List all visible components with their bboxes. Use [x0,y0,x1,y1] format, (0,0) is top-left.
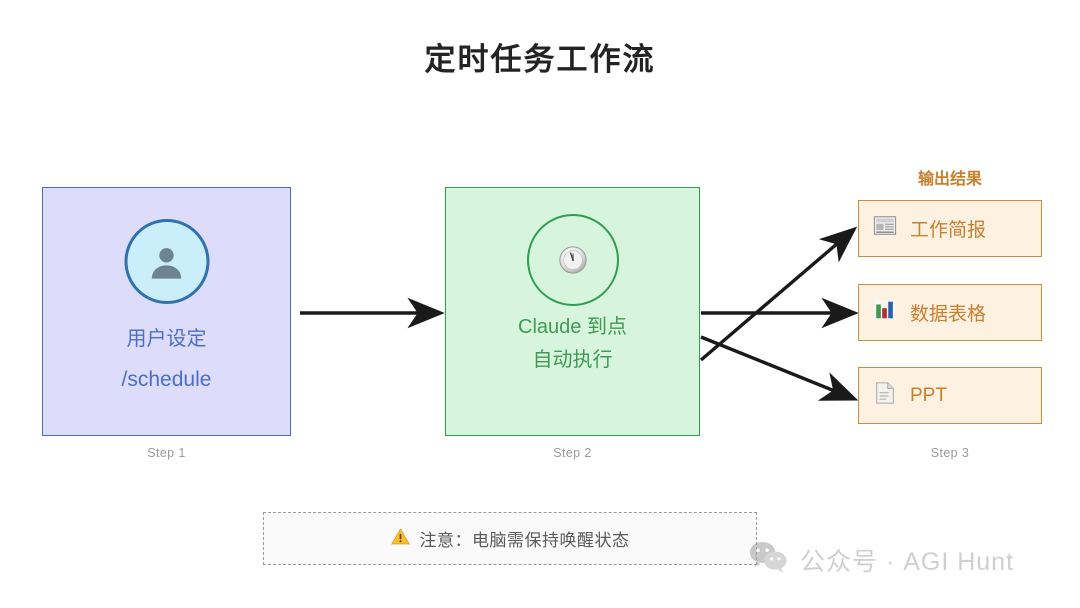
clock-icon [558,245,588,275]
step-1-label-main: 用户设定 [43,322,290,351]
output-card-report[interactable]: 工作简报 [858,200,1042,257]
outputs-header-label: 输出结果 [858,165,1042,189]
page-title: 定时任务工作流 [0,34,1080,79]
step-2-label-main: Claude 到点 [446,310,699,339]
output-card-table[interactable]: 数据表格 [858,284,1042,341]
step-2-label-sub: 自动执行 [446,343,699,372]
warning-note-text: 注意：电脑需保持唤醒状态 [420,526,630,551]
report-document-icon [873,214,897,243]
watermark: 公众号 · AGI Hunt [748,540,1014,579]
step-2-caption: Step 2 [445,446,700,460]
step-2-box[interactable]: Claude 到点 自动执行 [445,187,700,436]
arrow-step2-to-output-2 [701,337,852,398]
arrow-step2-to-output-0 [701,231,852,360]
watermark-text: 公众号 · AGI Hunt [800,542,1014,578]
output-label-table: 数据表格 [910,299,986,326]
step-1-box[interactable]: 用户设定 /schedule [42,187,291,436]
bar-chart-icon [873,298,897,327]
slide-page-icon [873,381,897,410]
clock-circle-ring [527,214,619,306]
warning-triangle-icon [391,527,410,551]
step-1-label-sub: /schedule [43,368,290,392]
wechat-icon [748,540,788,579]
warning-note-box: 注意：电脑需保持唤醒状态 [263,512,757,565]
diagram-canvas: 定时任务工作流 用户设定 /schedule Step 1 [0,0,1080,608]
output-label-ppt: PPT [910,385,947,407]
step-1-caption: Step 1 [42,446,291,460]
user-avatar-icon [124,219,209,304]
step-3-caption: Step 3 [858,446,1042,460]
output-label-report: 工作简报 [910,215,986,242]
output-card-ppt[interactable]: PPT [858,367,1042,424]
